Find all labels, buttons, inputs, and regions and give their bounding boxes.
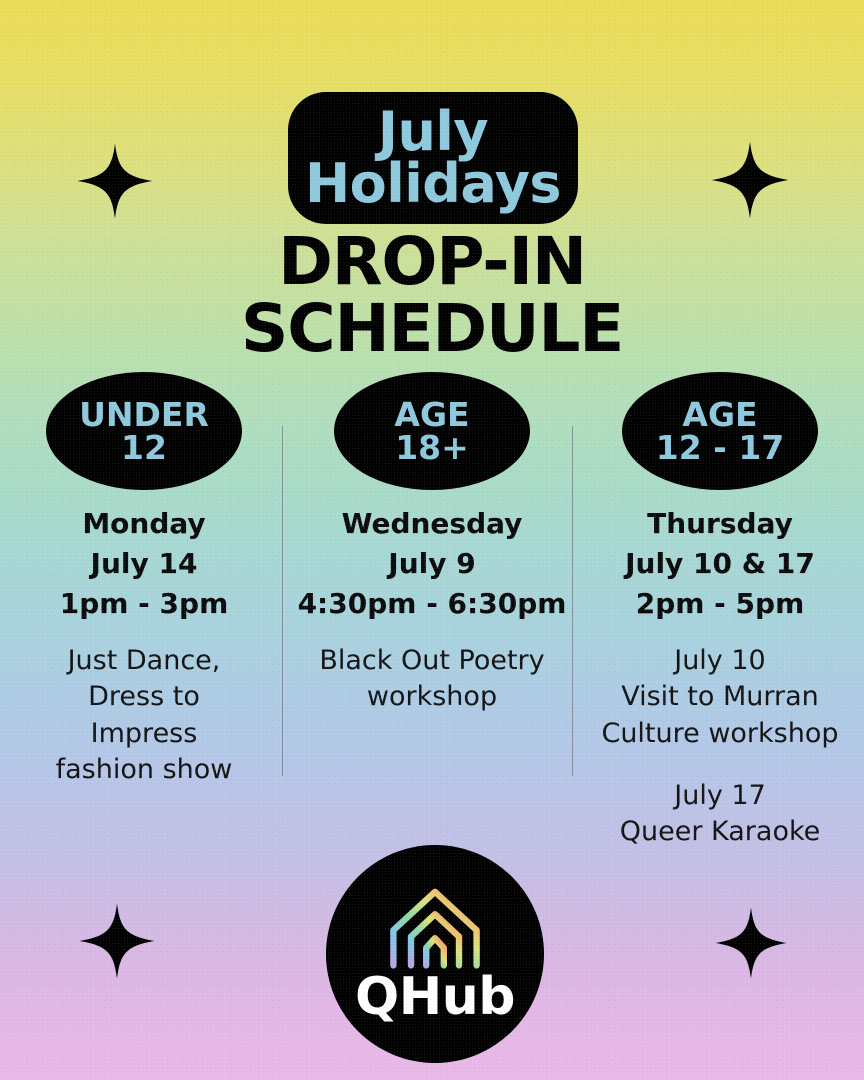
- poster-canvas: July Holidays DROP-IN SCHEDULE UNDER 12 …: [0, 0, 864, 1080]
- when-date: July 10 & 17: [625, 544, 815, 584]
- title-pill: July Holidays: [288, 92, 578, 224]
- schedule-when-under-12: Monday July 14 1pm - 3pm: [60, 504, 229, 623]
- schedule-columns: UNDER 12 Monday July 14 1pm - 3pm Just D…: [0, 372, 864, 850]
- title-line-2: Holidays: [305, 158, 561, 210]
- activity-line: fashion show: [56, 752, 233, 788]
- activity-line: Culture workshop: [601, 716, 838, 752]
- schedule-column-under-12: UNDER 12 Monday July 14 1pm - 3pm Just D…: [0, 372, 288, 788]
- activity-line: Impress: [56, 716, 233, 752]
- qhub-logo-text: QHub: [355, 971, 515, 1023]
- sparkle-icon-bottom-left: [78, 902, 156, 980]
- activity-line: Black Out Poetry: [319, 643, 544, 679]
- sparkle-icon-bottom-right: [714, 906, 788, 980]
- activity-block: Just Dance, Dress to Impress fashion sho…: [56, 643, 233, 788]
- age-badge-18-plus: AGE 18+: [334, 372, 530, 490]
- qhub-house-icon: [387, 885, 483, 969]
- when-day: Monday: [60, 504, 229, 544]
- activity-line: Just Dance,: [56, 643, 233, 679]
- when-time: 4:30pm - 6:30pm: [298, 584, 567, 624]
- when-day: Thursday: [625, 504, 815, 544]
- when-date: July 14: [60, 544, 229, 584]
- when-date: July 9: [298, 544, 567, 584]
- activity-line: Visit to Murran: [601, 679, 838, 715]
- age-badge-under-12: UNDER 12: [46, 372, 242, 490]
- schedule-when-age-18-plus: Wednesday July 9 4:30pm - 6:30pm: [298, 504, 567, 623]
- age-badge-line-1: AGE: [682, 398, 757, 431]
- age-badge-line-2: 12: [121, 431, 167, 464]
- activity-block: July 17 Queer Karaoke: [620, 778, 821, 850]
- activity-line: July 17: [620, 778, 821, 814]
- subtitle-line-2: SCHEDULE: [0, 295, 864, 362]
- subtitle-line-1: DROP-IN: [0, 228, 864, 295]
- activity-line: Queer Karaoke: [620, 814, 821, 850]
- when-time: 2pm - 5pm: [625, 584, 815, 624]
- age-badge-line-2: 18+: [395, 431, 469, 464]
- when-time: 1pm - 3pm: [60, 584, 229, 624]
- activity-line: Dress to: [56, 679, 233, 715]
- qhub-logo: QHub: [326, 845, 544, 1063]
- activity-line: workshop: [319, 679, 544, 715]
- age-badge-line-2: 12 - 17: [656, 431, 785, 464]
- schedule-column-age-12-17: AGE 12 - 17 Thursday July 10 & 17 2pm - …: [576, 372, 864, 850]
- age-badge-line-1: UNDER: [79, 398, 209, 431]
- sparkle-icon-top-right: [710, 140, 790, 220]
- activity-block: July 10 Visit to Murran Culture workshop: [601, 643, 838, 752]
- sparkle-icon-top-left: [76, 142, 154, 220]
- age-badge-line-1: AGE: [394, 398, 469, 431]
- title-line-1: July: [378, 106, 488, 158]
- age-badge-12-17: AGE 12 - 17: [622, 372, 818, 490]
- activity-block: Black Out Poetry workshop: [319, 643, 544, 715]
- when-day: Wednesday: [298, 504, 567, 544]
- schedule-when-age-12-17: Thursday July 10 & 17 2pm - 5pm: [625, 504, 815, 623]
- page-subtitle: DROP-IN SCHEDULE: [0, 228, 864, 363]
- schedule-column-age-18-plus: AGE 18+ Wednesday July 9 4:30pm - 6:30pm…: [288, 372, 576, 716]
- activity-line: July 10: [601, 643, 838, 679]
